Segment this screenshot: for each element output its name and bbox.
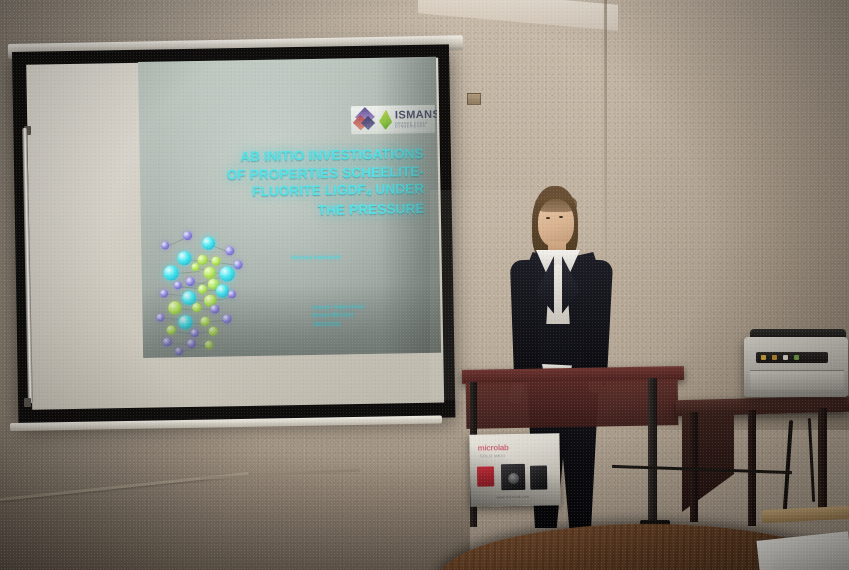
atom-sphere bbox=[161, 241, 169, 249]
projected-slide: ISMANS GRANDE ECOLE D'INGENIEURS AB INIT… bbox=[138, 57, 441, 358]
screen-rod-cap-bottom bbox=[24, 398, 31, 407]
atom-sphere bbox=[177, 251, 191, 265]
dark-table-leg-c bbox=[818, 408, 827, 520]
printer-led-3 bbox=[794, 355, 799, 360]
arm-right bbox=[581, 259, 613, 380]
atom-sphere bbox=[233, 260, 242, 269]
diamond-pyramid-logo-icon bbox=[354, 109, 376, 131]
arm-left bbox=[510, 260, 540, 381]
side-table-apron bbox=[466, 379, 679, 429]
atom-sphere bbox=[186, 277, 195, 286]
atom-sphere bbox=[204, 267, 216, 279]
atom-sphere bbox=[225, 246, 234, 255]
atom-sphere bbox=[192, 263, 200, 271]
printer-button[interactable] bbox=[783, 355, 788, 360]
printer-led-1 bbox=[761, 355, 766, 360]
hair-fringe bbox=[535, 194, 577, 212]
eye-right bbox=[559, 216, 563, 218]
atom-sphere bbox=[220, 266, 235, 281]
printer-control-panel[interactable] bbox=[756, 352, 828, 363]
wall-outlet bbox=[467, 93, 481, 105]
side-table-leg-right bbox=[648, 378, 657, 526]
printer-paper-tray bbox=[750, 370, 844, 390]
eye-left bbox=[546, 217, 550, 219]
presentation-room-photo: ISMANS GRANDE ECOLE D'INGENIEURS AB INIT… bbox=[0, 0, 849, 570]
atom-sphere bbox=[197, 255, 207, 265]
atom-sphere bbox=[211, 257, 220, 266]
floor-shadow bbox=[0, 420, 470, 570]
slide-title-line-3-prefix: FLUORITE LIGDF bbox=[252, 182, 366, 199]
dark-table-leg-b bbox=[748, 410, 756, 526]
speaker-box: microlab SOLO MKIII www.microlab.com bbox=[469, 433, 560, 507]
atom-sphere bbox=[183, 231, 192, 240]
box-shadow-overlay bbox=[469, 433, 560, 507]
paper-sheet-b bbox=[771, 546, 849, 570]
atom-sphere bbox=[164, 265, 179, 280]
atom-sphere bbox=[202, 237, 215, 250]
printer-led-2 bbox=[772, 355, 777, 360]
projection-dim-bottom bbox=[142, 283, 441, 358]
